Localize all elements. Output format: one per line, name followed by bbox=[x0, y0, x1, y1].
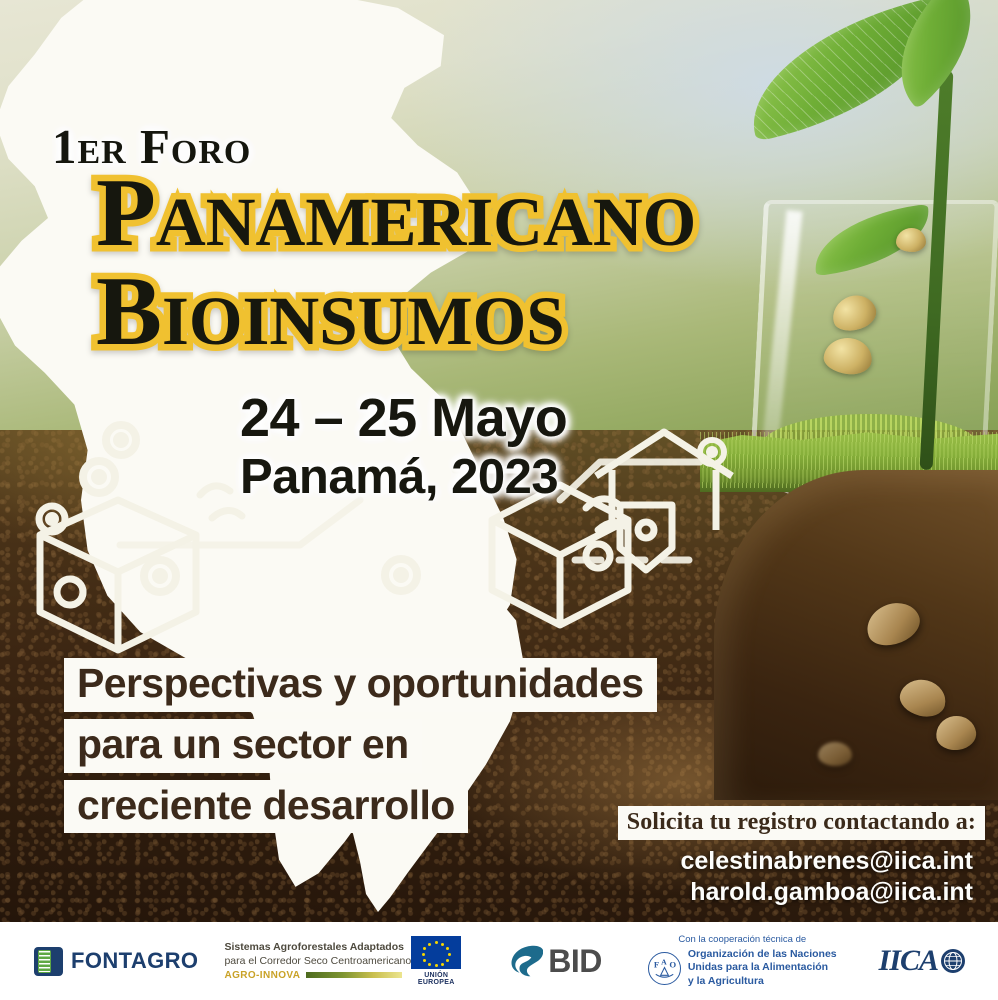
fontagro-mark-icon bbox=[34, 947, 63, 976]
footer-logo-bar: FONTAGRO Sistemas Agroforestales Adaptad… bbox=[0, 922, 998, 1000]
tagline-block: Perspectivas y oportunidades para un sec… bbox=[64, 658, 657, 840]
agro-innova-brand: AGRO-INNOVA bbox=[224, 970, 300, 981]
european-union-logo: UNIÓN EUROPEA bbox=[411, 936, 461, 986]
contact-email-1[interactable]: celestinabrenes@iica.int bbox=[585, 846, 985, 877]
eu-label: UNIÓN EUROPEA bbox=[411, 972, 461, 986]
fao-name-line-2: Unidas para la Alimentación bbox=[688, 961, 837, 974]
agro-innova-line-2: para el Corredor Seco Centroamericano bbox=[224, 955, 411, 968]
fao-cooperation-note: Con la cooperación técnica de bbox=[648, 934, 837, 945]
tagline-line-3: creciente desarrollo bbox=[64, 780, 468, 834]
svg-text:F: F bbox=[654, 959, 659, 969]
title-line-bioinsumos: Bioinsumos bbox=[96, 264, 696, 359]
circle-node-icon bbox=[83, 461, 115, 493]
poster: 1er Foro Panamericano Bioinsumos 24 – 25… bbox=[0, 0, 998, 1000]
eu-flag-icon bbox=[411, 936, 461, 969]
fao-logo: Con la cooperación técnica de F A O Orga… bbox=[648, 934, 837, 987]
svg-text:A: A bbox=[661, 957, 667, 966]
event-date-block: 24 – 25 Mayo Panamá, 2023 bbox=[240, 390, 567, 503]
fao-emblem-icon: F A O bbox=[648, 952, 681, 985]
svg-text:O: O bbox=[669, 959, 676, 969]
fao-name-line-3: y la Agricultura bbox=[688, 975, 837, 988]
iica-logo: IICA bbox=[879, 944, 965, 978]
fontagro-wordmark: FONTAGRO bbox=[71, 948, 198, 974]
event-location: Panamá, 2023 bbox=[240, 452, 567, 503]
connector-line bbox=[120, 500, 360, 545]
seed-glyph-icon bbox=[200, 486, 242, 518]
iica-globe-icon bbox=[941, 949, 965, 973]
circle-node-icon bbox=[385, 559, 417, 591]
tagline-line-2: para un sector en bbox=[64, 719, 422, 773]
fontagro-logo: FONTAGRO bbox=[34, 947, 198, 976]
contact-email-2[interactable]: harold.gamboa@iica.int bbox=[585, 877, 985, 908]
fao-name-line-1: Organización de las Naciones bbox=[688, 948, 837, 961]
bid-americas-icon bbox=[507, 943, 543, 979]
agro-innova-line-1: Sistemas Agroforestales Adaptados bbox=[224, 941, 411, 954]
bid-wordmark: BID bbox=[548, 943, 602, 980]
bid-logo: BID bbox=[507, 943, 602, 980]
event-dates: 24 – 25 Mayo bbox=[240, 390, 567, 447]
title-line-panamericano: Panamericano bbox=[96, 166, 696, 260]
contact-heading: Solicita tu registro contactando a: bbox=[618, 806, 985, 840]
agro-innova-gradient-bar bbox=[306, 972, 402, 978]
agro-innova-logo: Sistemas Agroforestales Adaptados para e… bbox=[224, 941, 411, 980]
circle-node-icon bbox=[106, 425, 136, 455]
poster-title: Panamericano Bioinsumos bbox=[96, 166, 696, 359]
isometric-box-icon bbox=[492, 485, 628, 625]
circle-node-icon bbox=[144, 560, 176, 592]
contact-block: Solicita tu registro contactando a: cele… bbox=[585, 806, 985, 909]
iica-wordmark: IICA bbox=[879, 944, 938, 978]
tagline-line-1: Perspectivas y oportunidades bbox=[64, 658, 657, 712]
fao-full-name: Organización de las Naciones Unidas para… bbox=[688, 948, 837, 987]
